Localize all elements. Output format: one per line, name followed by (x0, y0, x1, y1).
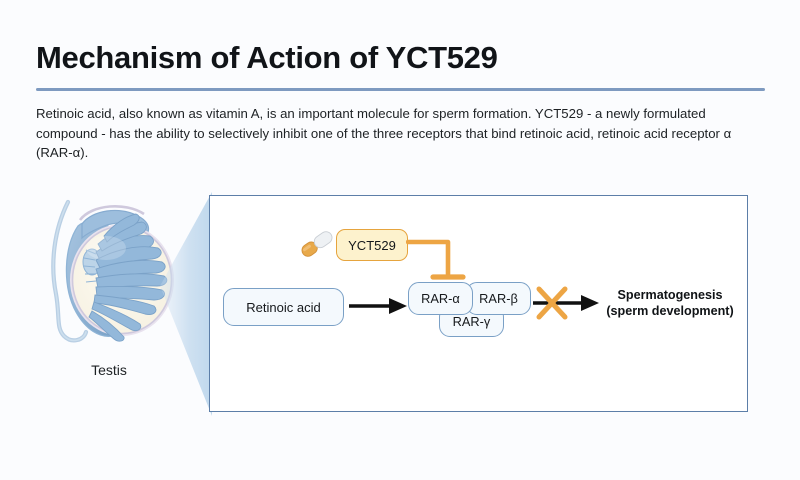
blocked-x-arrow-icon (533, 284, 601, 322)
testis-figure: Testis (34, 190, 184, 395)
inhibition-tbar-icon (406, 232, 468, 288)
node-retinoic-acid-label: Retinoic acid (246, 300, 320, 315)
testis-label: Testis (34, 362, 184, 378)
intro-paragraph: Retinoic acid, also known as vitamin A, … (36, 104, 748, 163)
node-rar-beta[interactable]: RAR-β (466, 282, 531, 315)
capsule-pill-icon (298, 229, 336, 259)
outcome-line-2: (sperm development) (596, 303, 744, 319)
node-rar-alpha[interactable]: RAR-α (408, 282, 473, 315)
node-retinoic-acid[interactable]: Retinoic acid (223, 288, 344, 326)
mechanism-diagram-panel: YCT529 Retinoic acid RAR-α RAR-β RAR-γ (209, 195, 748, 412)
node-yct529-label: YCT529 (348, 238, 396, 253)
node-yct529[interactable]: YCT529 (336, 229, 408, 261)
outcome-line-1: Spermatogenesis (596, 287, 744, 303)
node-rar-gamma-label: RAR-γ (453, 314, 491, 329)
outcome-label: Spermatogenesis (sperm development) (596, 287, 744, 319)
node-rar-alpha-label: RAR-α (421, 291, 460, 306)
title-underline-rule (36, 88, 765, 91)
page-title: Mechanism of Action of YCT529 (36, 40, 498, 76)
activation-arrow-icon (347, 294, 409, 318)
node-rar-beta-label: RAR-β (479, 291, 518, 306)
testis-anatomy-icon (34, 190, 184, 360)
infographic-page: Mechanism of Action of YCT529 Retinoic a… (0, 0, 800, 480)
